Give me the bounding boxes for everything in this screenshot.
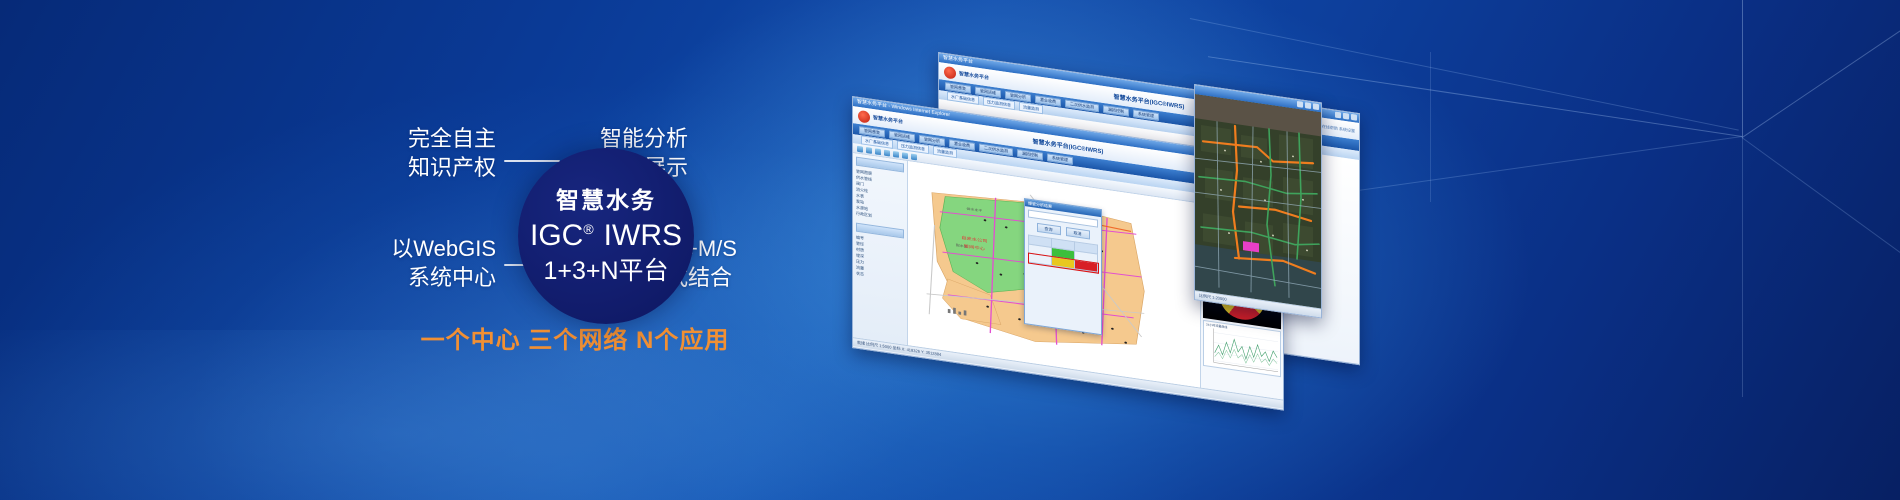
window-mid-brand-name: 智慧水务平台 xyxy=(873,114,903,125)
burst-analysis-dialog[interactable]: 爆管分析结果 查询 取消 xyxy=(1024,198,1102,335)
feature-bottom-left-line2: 系统中心 xyxy=(296,263,496,292)
perspective-line-corner-second xyxy=(1430,52,1431,202)
circle-brand-igc: IGC xyxy=(530,219,583,252)
flow-chart-svg xyxy=(1204,321,1280,376)
dialog-cancel-button[interactable]: 取消 xyxy=(1066,227,1090,239)
company-logo-icon xyxy=(858,109,870,123)
feature-top-left-line1: 完全自主 xyxy=(408,126,496,151)
hero-tagline: 一个中心 三个网络 N个应用 xyxy=(365,320,785,355)
circle-brand-iwrs: IWRS xyxy=(604,219,682,252)
perspective-line-ceiling-right xyxy=(1742,20,1900,138)
feature-bottom-left-line1: 以WebGIS xyxy=(391,236,496,261)
tool-select-icon[interactable] xyxy=(884,149,890,156)
attrs-list: 编号 管径 材质 埋深 压力 流量 状态 xyxy=(856,235,904,284)
perspective-line-corner-up xyxy=(1742,0,1743,137)
hero-circle: 智慧水务 IGC®IWRS 1+3+N平台 xyxy=(518,148,694,324)
satellite-map-canvas[interactable] xyxy=(1195,94,1321,308)
screenshot-stack: 智慧水务平台 智慧水务平台 智慧水务平台(IGC®IWRS) 首页 用户 退出系… xyxy=(790,40,1430,380)
perspective-line-floor-right xyxy=(1741,137,1900,273)
circle-en-title: IGC®IWRS xyxy=(530,221,682,251)
circle-cn-title: 智慧水务 xyxy=(556,189,656,212)
window-back-brand-name: 智慧水务平台 xyxy=(959,70,989,81)
company-logo-icon xyxy=(944,65,956,79)
dialog-ok-button[interactable]: 查询 xyxy=(1037,223,1061,235)
window-front-right[interactable]: 比例尺 1:20000 xyxy=(1194,84,1322,319)
perspective-line-corner-down xyxy=(1742,137,1743,397)
feature-top-left-line2: 知识产权 xyxy=(306,153,496,182)
tool-zoom-in-icon[interactable] xyxy=(866,147,872,154)
tool-query-icon[interactable] xyxy=(902,152,908,159)
registered-mark-icon: ® xyxy=(583,221,593,237)
satellite-map-svg xyxy=(1195,94,1321,308)
feature-top-left: 完全自主 知识产权 xyxy=(306,124,496,182)
tool-pan-icon[interactable] xyxy=(857,145,863,152)
feature-top-right-line1: 智能分析 xyxy=(600,126,688,151)
connector-dash-top-left xyxy=(504,160,560,162)
tool-print-icon[interactable] xyxy=(911,153,917,160)
dialog-result-table xyxy=(1028,235,1098,273)
dialog-body: 查询 取消 xyxy=(1025,206,1101,276)
layers-panel[interactable]: 管网图层 供水管线 阀门 消火栓 水表 泵站 水源地 行政区划 编号 管径 材质 xyxy=(853,153,908,345)
tool-zoom-out-icon[interactable] xyxy=(875,148,881,155)
banner-root: 智慧水务平台 智慧水务平台 智慧水务平台(IGC®IWRS) 首页 用户 退出系… xyxy=(0,0,1900,500)
tool-measure-icon[interactable] xyxy=(893,150,899,157)
circle-platform-label: 1+3+N平台 xyxy=(543,259,668,284)
feature-bottom-left: 以WebGIS 系统中心 xyxy=(296,234,496,292)
flow-chart-widget: 24小时流量曲线 xyxy=(1203,320,1281,377)
layers-tree[interactable]: 管网图层 供水管线 阀门 消火栓 水表 泵站 水源地 行政区划 xyxy=(856,169,904,224)
